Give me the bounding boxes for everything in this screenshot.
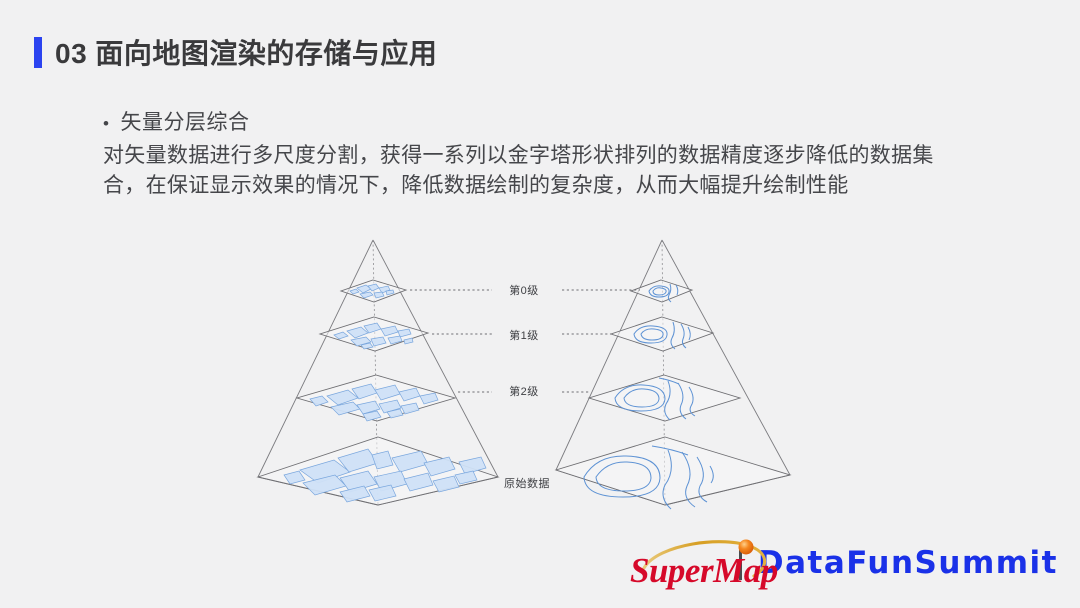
pyramid-level-1 <box>320 317 428 351</box>
footer-logos: SuperMap DataFunSummit <box>628 532 1058 594</box>
contour-level-0 <box>631 280 692 302</box>
level-label-1: 第1级 <box>509 327 539 343</box>
contour-pyramid <box>556 240 790 509</box>
level-label-source: 原始数据 <box>504 475 550 491</box>
pyramid-level-2 <box>297 375 455 421</box>
supermap-logo: SuperMap <box>628 534 727 592</box>
polygon-pyramid <box>258 240 498 505</box>
pyramid-level-3 <box>258 437 498 505</box>
body-content: • 矢量分层综合 对矢量数据进行多尺度分割，获得一系列以金字塔形状排列的数据精度… <box>103 108 983 201</box>
pyramid-level-0 <box>341 280 406 302</box>
body-paragraph: 对矢量数据进行多尺度分割，获得一系列以金字塔形状排列的数据精度逐步降低的数据集合… <box>103 141 971 201</box>
title-label: 03 面向地图渲染的存储与应用 <box>55 32 437 72</box>
bullet-marker-icon: • <box>103 109 109 139</box>
bullet-heading-label: 矢量分层综合 <box>120 108 249 138</box>
level-label-2: 第2级 <box>509 383 539 399</box>
page-title: 03 面向地图渲染的存储与应用 <box>34 34 437 70</box>
leader-lines <box>410 290 640 392</box>
bullet-heading: • 矢量分层综合 <box>103 108 983 139</box>
datafunsummit-wordmark: DataFunSummit <box>758 545 1058 581</box>
supermap-wordmark: SuperMap <box>630 552 778 590</box>
contour-level-3 <box>556 437 790 509</box>
contour-level-1 <box>611 317 713 351</box>
slide-canvas: 03 面向地图渲染的存储与应用 • 矢量分层综合 对矢量数据进行多尺度分割，获得… <box>0 0 1080 608</box>
level-label-0: 第0级 <box>509 282 539 298</box>
title-accent-bar <box>34 37 42 68</box>
vector-pyramid-diagram: .edge { fill:none; stroke:#7b7b7f; strok… <box>0 0 1080 608</box>
contour-level-2 <box>589 375 740 421</box>
